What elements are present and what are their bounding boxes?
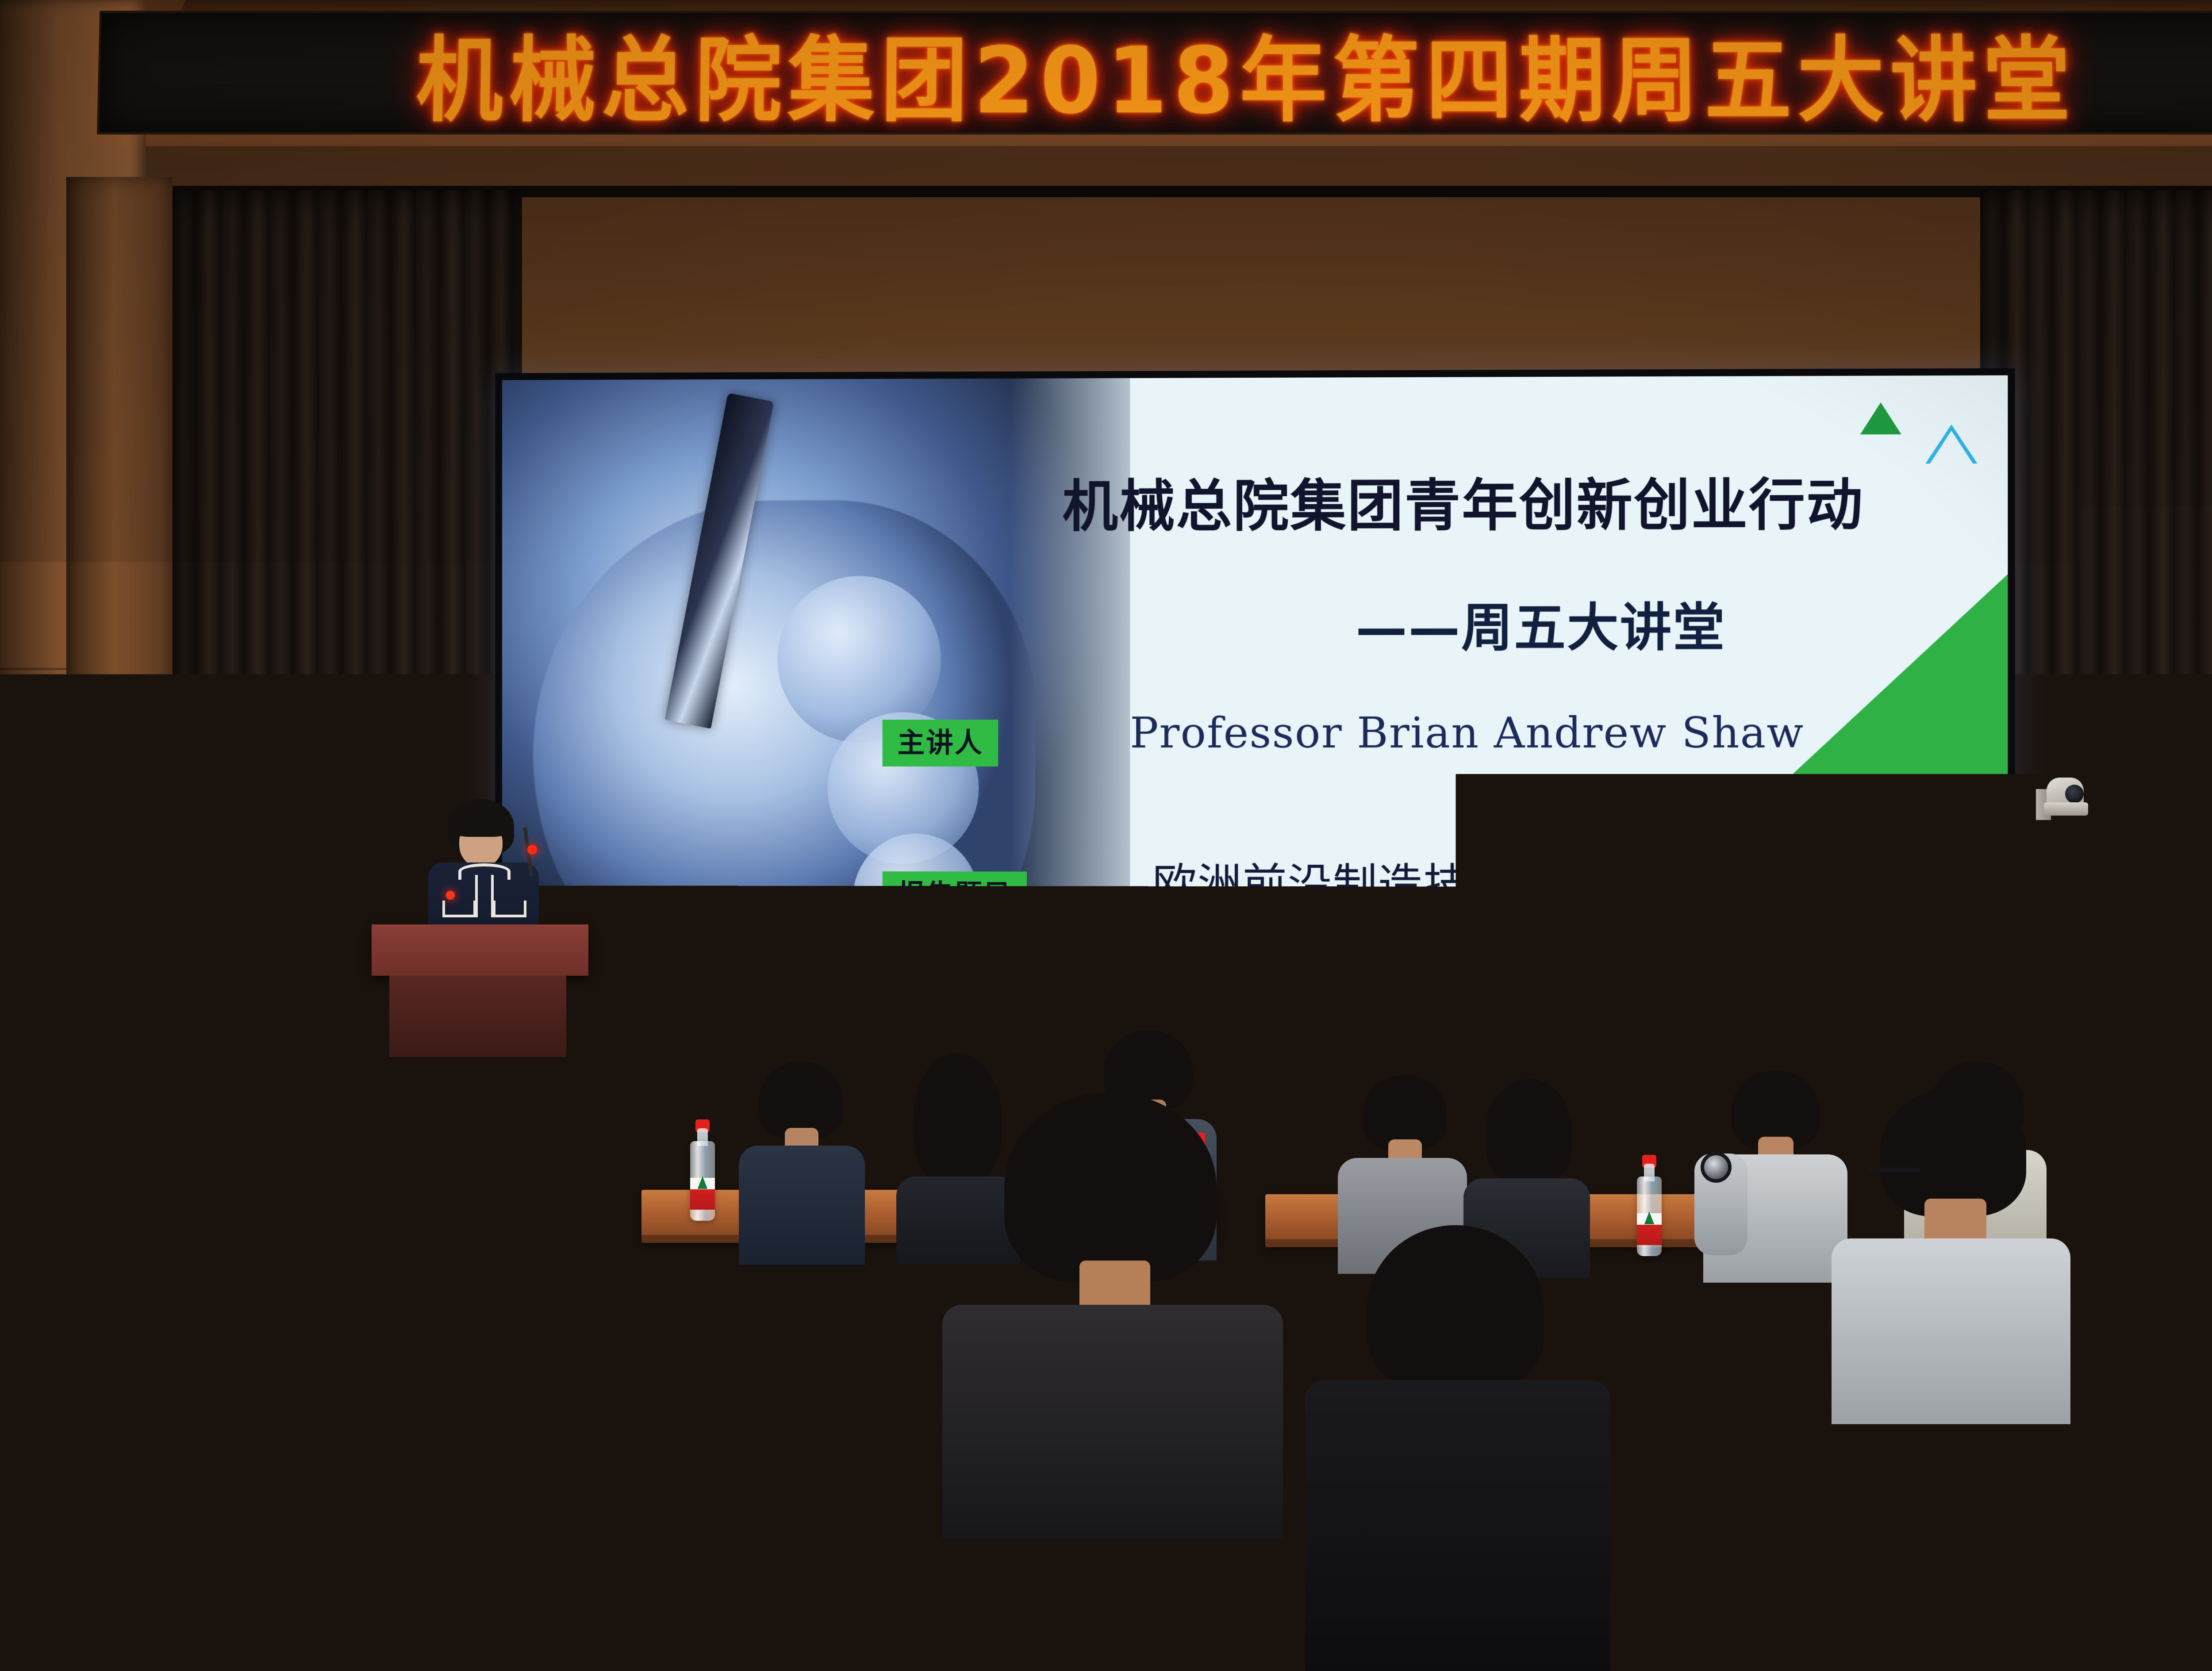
person-hair — [1880, 1088, 2026, 1216]
person-torso — [1575, 1583, 2000, 1671]
person-hair — [1367, 1225, 1544, 1393]
projection-screen: 机械总院集团青年创新创业行动 ——周五大讲堂 主讲人 Professor Bri… — [495, 368, 2015, 1147]
person-hair — [2168, 1194, 2212, 1371]
podium-body — [389, 976, 566, 1057]
person-torso — [1305, 1380, 1610, 1671]
podium — [372, 924, 588, 1057]
person-hair — [677, 1336, 942, 1557]
presenter-hair-fringe — [451, 815, 511, 837]
presenter-pocket-right — [493, 901, 526, 917]
camera-lens — [2065, 785, 2084, 803]
topic-english-line1: Introduction of advanced — [1152, 947, 1682, 983]
podium-top — [372, 924, 588, 976]
topic-english-line2: manufacturing technology in Europe — [1152, 982, 1682, 1018]
person-torso — [2035, 1402, 2212, 1671]
led-banner-text: 机械总院集团2018年第四期周五大讲堂 — [415, 11, 2077, 134]
person-back-6 — [1699, 1053, 1849, 1283]
person-neck — [1752, 1526, 1840, 1592]
camera-body — [2047, 778, 2084, 805]
lecture-hall-photo: 机械总院集团2018年第四期周五大讲堂 — [0, 0, 2212, 1671]
microphone-led-icon — [527, 845, 537, 855]
person-hair — [759, 1062, 843, 1139]
water-bottle-7 — [1991, 1429, 2029, 1552]
camera-base — [2044, 802, 2088, 816]
person-torso — [1832, 1238, 2070, 1424]
topic-english: Introduction of advanced manufacturing t… — [1152, 947, 1682, 1018]
presenter-placket-trim — [475, 875, 494, 917]
speaker-badge: 主讲人 — [883, 720, 998, 767]
paper-on-desk — [310, 1575, 411, 1628]
person-hair-long — [18, 1252, 204, 1535]
speaker-name: Professor Brian Andrew Shaw — [1130, 708, 1804, 758]
person-torso — [0, 1517, 274, 1671]
presentation-slide: 机械总院集团青年创新创业行动 ——周五大讲堂 主讲人 Professor Bri… — [502, 376, 2008, 1140]
topic-badge: 报告题目 — [883, 871, 1027, 918]
person-torso — [584, 1583, 1035, 1671]
presenter-pocket-left — [442, 901, 476, 917]
eyeglasses-icon — [1867, 1168, 1920, 1172]
led-scrolling-banner: 机械总院集团2018年第四期周五大讲堂 — [97, 11, 2212, 134]
person-neck — [779, 1526, 867, 1592]
logo-triangle-outline-inner — [1930, 431, 1973, 464]
presenter-badge-light — [446, 891, 455, 900]
person-hair — [2199, 1075, 2212, 1155]
person-hair — [456, 1132, 602, 1265]
person-hair — [1004, 1092, 1217, 1283]
slide-subtitle: ——周五大讲堂 — [1356, 586, 1726, 661]
person-hair — [243, 1163, 407, 1305]
person-mid-right-glasses — [1840, 1088, 2062, 1424]
person-fg-bottom-left — [611, 1336, 1009, 1671]
ptz-camera-icon — [2036, 775, 2093, 824]
water-bottle-3 — [1637, 1177, 1662, 1256]
logo-triangle-filled-icon — [1860, 402, 1901, 435]
wristwatch — [1701, 1152, 1732, 1183]
eyeglasses-icon — [1641, 1482, 1708, 1486]
photo-scribble-1 — [643, 1041, 808, 1057]
person-fg-right — [2079, 1194, 2212, 1671]
topic-chinese: 欧洲前沿制造技术简介 — [1152, 849, 1605, 913]
person-hair-long — [1486, 1079, 1572, 1185]
wood-column-left — [66, 177, 173, 1177]
person-fg-black-shirt — [1336, 1225, 1575, 1671]
person-hair — [1363, 1075, 1447, 1150]
slide-title: 机械总院集团青年创新创业行动 — [1062, 460, 1864, 542]
